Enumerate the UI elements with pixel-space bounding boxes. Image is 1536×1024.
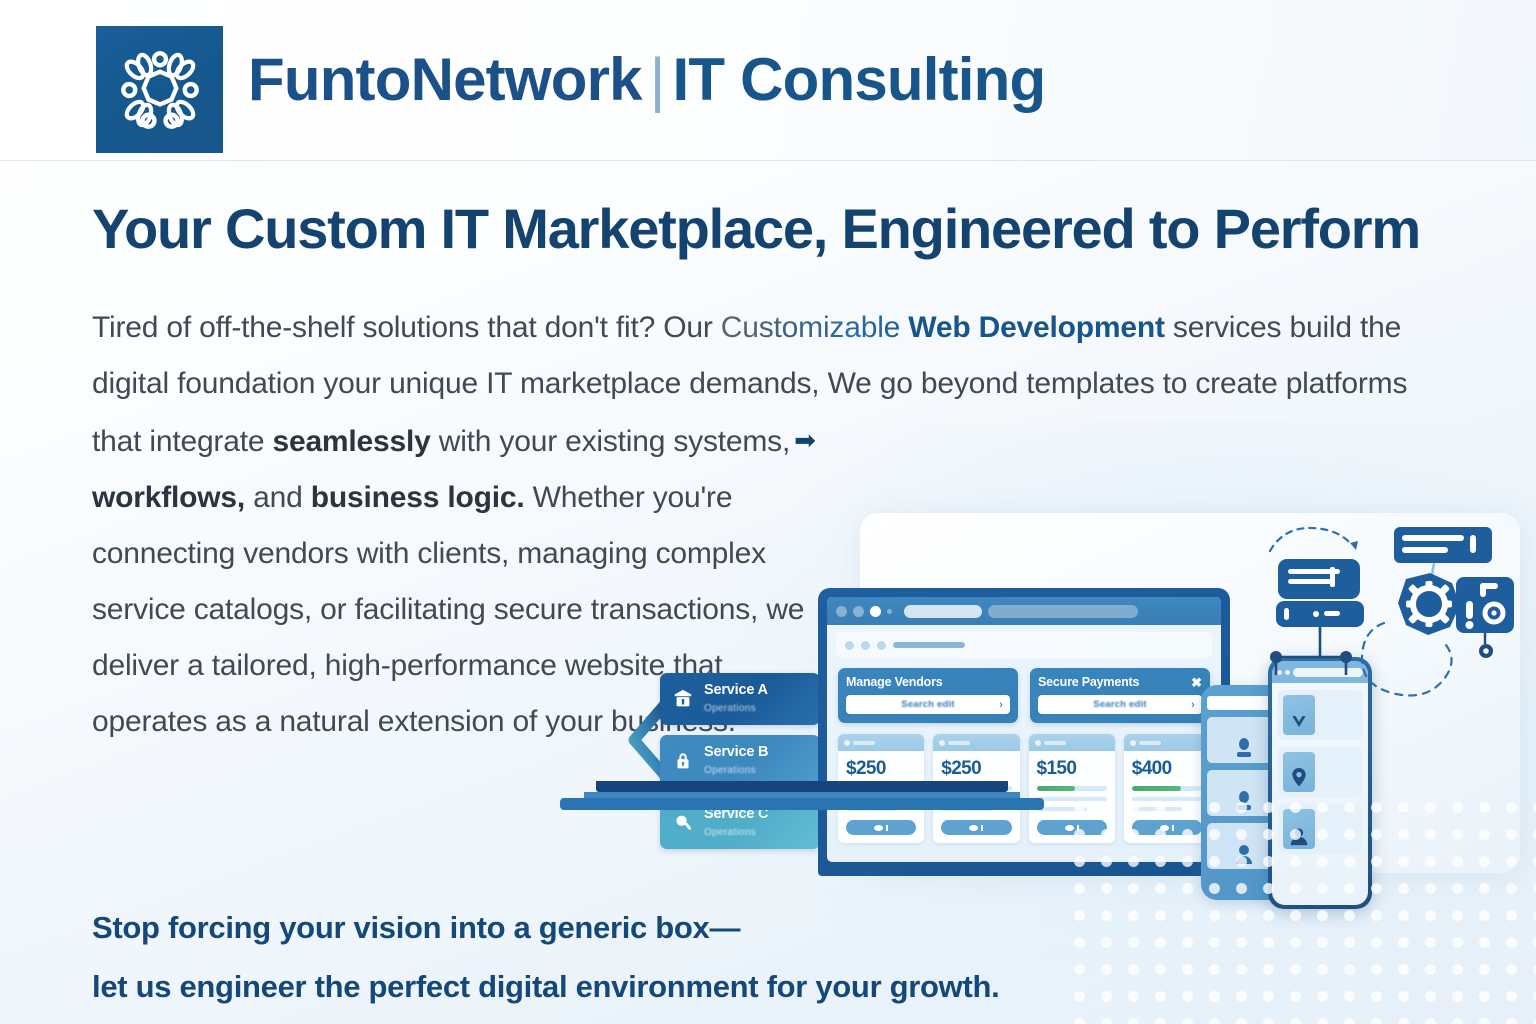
body-text-workflows: workflows, bbox=[92, 481, 245, 514]
location-pin-icon bbox=[1283, 752, 1315, 792]
toolbar-bar bbox=[893, 642, 965, 648]
page-title: Your Custom IT Marketplace, Engineered t… bbox=[92, 197, 1502, 261]
body-text-customizable: Customizable bbox=[721, 311, 900, 344]
product-action-button[interactable] bbox=[846, 820, 916, 835]
window-dot-icon bbox=[853, 606, 864, 617]
brand-divider: | bbox=[642, 46, 673, 113]
service-chip-b[interactable]: Service B Operations bbox=[660, 735, 820, 787]
alert-panel-icon bbox=[1456, 577, 1514, 658]
manage-vendors-title: Manage Vendors bbox=[846, 675, 943, 689]
placeholder-line bbox=[1132, 807, 1183, 811]
product-card-header bbox=[1124, 734, 1210, 751]
product-price: $150 bbox=[1037, 758, 1107, 780]
product-action-button[interactable] bbox=[941, 820, 1011, 835]
browser-toolbar bbox=[836, 632, 1212, 658]
closing-line-1: Stop forcing your vision into a generic … bbox=[92, 898, 1212, 957]
toolbar-dot-icon bbox=[877, 641, 886, 650]
panel-row: Manage Vendors Search edit › Secure Paym… bbox=[827, 658, 1221, 723]
body-text-seamlessly: seamlessly bbox=[272, 425, 430, 458]
secure-payments-input-text: Search edit bbox=[1093, 699, 1146, 710]
browser-chrome-bar bbox=[827, 597, 1221, 625]
bank-building-icon bbox=[670, 686, 696, 712]
close-icon[interactable]: ✖ bbox=[1191, 676, 1202, 689]
window-dot-icon bbox=[836, 606, 847, 617]
search-person-icon bbox=[670, 810, 696, 836]
manage-vendors-panel[interactable]: Manage Vendors Search edit › bbox=[838, 668, 1018, 723]
lock-icon bbox=[670, 748, 696, 774]
secure-payments-panel[interactable]: Secure Payments ✖ Search edit › bbox=[1030, 668, 1210, 723]
secure-payments-title: Secure Payments bbox=[1038, 675, 1139, 689]
brand-name: FuntoNetwork bbox=[248, 46, 642, 113]
address-bar[interactable] bbox=[904, 605, 982, 618]
gear-settings-icon bbox=[1398, 573, 1460, 635]
product-card-header bbox=[933, 734, 1019, 751]
product-action-button[interactable] bbox=[1132, 820, 1202, 835]
service-chip-a-subtitle: Operations bbox=[704, 703, 756, 714]
secure-payments-input[interactable]: Search edit › bbox=[1038, 695, 1202, 714]
brand-tagline: IT Consulting bbox=[673, 46, 1046, 113]
body-text-and: and bbox=[245, 481, 311, 514]
progress-bar bbox=[1037, 786, 1107, 791]
body-text-systems: with your existing systems, bbox=[431, 425, 791, 458]
placeholder-line bbox=[1037, 797, 1107, 801]
phone-list-item[interactable] bbox=[1278, 804, 1362, 854]
laptop-base bbox=[560, 781, 1044, 809]
service-chip-b-subtitle: Operations bbox=[704, 765, 756, 776]
placeholder-line bbox=[1132, 797, 1202, 801]
laptop-device: Manage Vendors Search edit › Secure Paym… bbox=[818, 588, 1230, 876]
chevron-right-icon: › bbox=[999, 699, 1003, 711]
product-price: $250 bbox=[846, 758, 916, 780]
window-dot-icon bbox=[887, 609, 892, 614]
hero-illustration: Service A Operations Service B Operation… bbox=[596, 495, 1536, 925]
service-chip-b-title: Service B bbox=[704, 744, 768, 760]
page-canvas: FuntoNetwork|IT Consulting Your Custom I… bbox=[0, 0, 1536, 1024]
product-price: $250 bbox=[941, 758, 1011, 780]
product-card-header bbox=[838, 734, 924, 751]
brand-title: FuntoNetwork|IT Consulting bbox=[248, 45, 1045, 114]
address-bar-extra[interactable] bbox=[988, 605, 1138, 618]
progress-bar bbox=[1132, 786, 1202, 791]
toolbar-dot-icon bbox=[845, 641, 854, 650]
right-arrow-icon: ➡ bbox=[790, 425, 816, 455]
brand-logo[interactable] bbox=[96, 26, 223, 153]
network-community-icon bbox=[112, 42, 208, 138]
product-action-button[interactable] bbox=[1037, 820, 1107, 835]
toolbar-dot-icon bbox=[861, 641, 870, 650]
service-chip-c-subtitle: Operations bbox=[704, 827, 756, 838]
body-text-business-logic: business logic. bbox=[311, 481, 525, 514]
network-infrastructure-icons bbox=[1254, 515, 1524, 715]
closing-statement: Stop forcing your vision into a generic … bbox=[92, 898, 1212, 1016]
phone-list-item[interactable] bbox=[1278, 747, 1362, 797]
product-card-header bbox=[1029, 734, 1115, 751]
product-card[interactable]: $400 bbox=[1124, 734, 1210, 843]
body-text-intro: Tired of off-the-shelf solutions that do… bbox=[92, 311, 721, 344]
site-header: FuntoNetwork|IT Consulting bbox=[0, 0, 1536, 161]
placeholder-line bbox=[1037, 807, 1088, 811]
closing-line-2: let us engineer the perfect digital envi… bbox=[92, 957, 1212, 1016]
manage-vendors-input-text: Search edit bbox=[901, 699, 954, 710]
service-chip-a[interactable]: Service A Operations bbox=[660, 673, 820, 725]
manage-vendors-input[interactable]: Search edit › bbox=[846, 695, 1010, 714]
product-price: $400 bbox=[1132, 758, 1202, 780]
user-avatar-icon bbox=[1283, 809, 1315, 849]
body-text-web-development: Web Development bbox=[908, 311, 1165, 344]
chevron-right-icon: › bbox=[1191, 699, 1195, 711]
window-dot-icon bbox=[870, 606, 881, 617]
laptop-screen: Manage Vendors Search edit › Secure Paym… bbox=[827, 597, 1221, 862]
server-stack-icon bbox=[1276, 559, 1364, 627]
service-chip-a-title: Service A bbox=[704, 682, 768, 698]
